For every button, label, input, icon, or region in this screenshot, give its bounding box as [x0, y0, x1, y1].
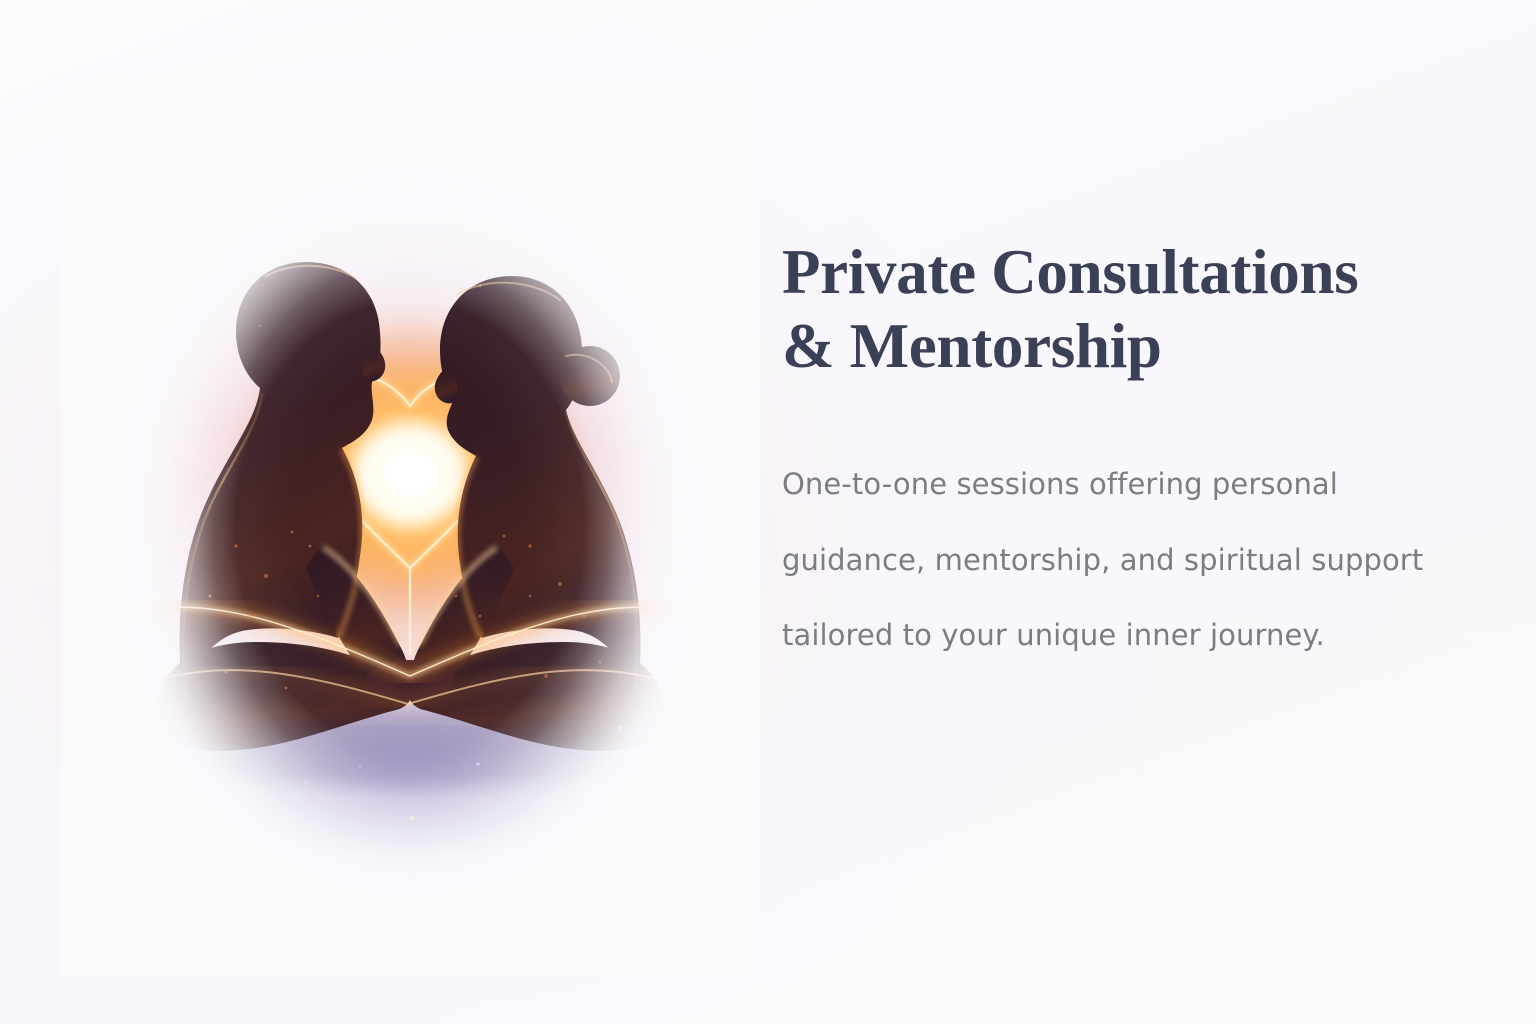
sparkle-overlay — [60, 76, 760, 976]
text-column: Private Consultations & Mentorship One-t… — [782, 236, 1462, 674]
promo-section: Private Consultations & Mentorship One-t… — [0, 0, 1536, 1024]
description-text: One-to-one sessions offering personal gu… — [782, 447, 1462, 673]
page-title: Private Consultations & Mentorship — [782, 236, 1462, 383]
page-title-line-1: Private Consultations — [782, 237, 1358, 307]
page-title-line-2: & Mentorship — [782, 310, 1462, 384]
couple-meditating-illustration — [60, 76, 760, 976]
